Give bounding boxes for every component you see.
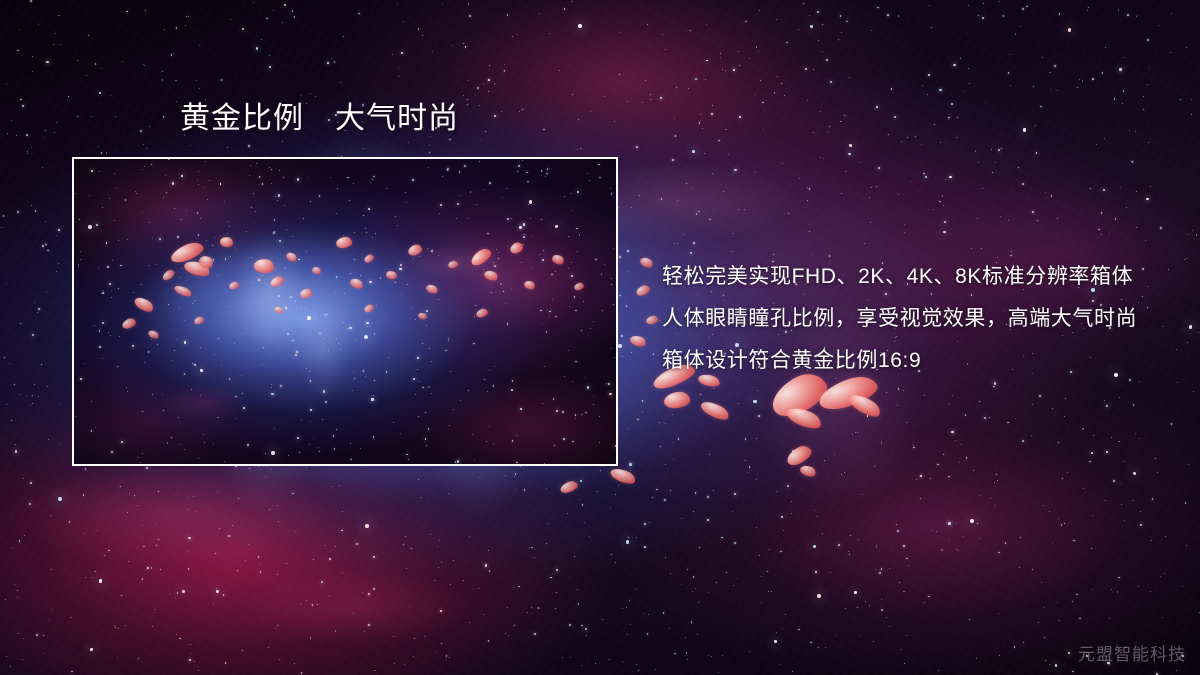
star xyxy=(143,64,144,65)
star xyxy=(468,3,469,4)
star xyxy=(450,584,451,585)
star xyxy=(1198,332,1199,333)
star xyxy=(22,105,24,107)
star xyxy=(217,491,218,492)
star xyxy=(904,224,905,225)
star xyxy=(761,576,762,577)
star xyxy=(1044,637,1045,638)
star xyxy=(1026,6,1028,8)
star xyxy=(230,19,231,20)
star xyxy=(478,477,479,478)
star xyxy=(577,589,578,590)
star xyxy=(1014,646,1015,647)
star xyxy=(1031,435,1032,436)
star xyxy=(994,505,995,506)
star xyxy=(681,518,682,519)
star xyxy=(1068,652,1070,654)
star xyxy=(985,102,986,103)
star xyxy=(956,523,957,524)
star xyxy=(619,32,620,33)
star xyxy=(59,443,60,444)
star xyxy=(373,588,375,590)
star xyxy=(69,521,70,522)
star xyxy=(836,635,837,636)
star xyxy=(32,71,33,72)
star xyxy=(799,178,800,179)
flower-petal xyxy=(509,241,525,255)
star xyxy=(43,137,44,138)
star xyxy=(1007,422,1009,424)
star xyxy=(938,670,939,671)
star xyxy=(728,154,729,155)
star xyxy=(942,195,943,196)
star xyxy=(137,505,138,506)
star xyxy=(522,109,524,111)
star xyxy=(469,15,470,16)
star xyxy=(1019,567,1020,568)
star xyxy=(708,655,709,656)
star xyxy=(693,242,695,244)
star xyxy=(807,187,808,188)
star xyxy=(20,323,21,324)
star xyxy=(36,634,38,636)
star xyxy=(60,44,61,45)
star xyxy=(488,640,489,641)
star xyxy=(644,546,645,547)
star xyxy=(996,474,997,475)
star xyxy=(1136,16,1137,17)
star xyxy=(901,649,902,650)
star xyxy=(904,232,905,233)
star xyxy=(958,550,959,551)
star xyxy=(282,22,283,23)
star xyxy=(1045,660,1046,661)
star xyxy=(398,67,399,68)
star xyxy=(858,539,859,540)
star xyxy=(365,524,369,528)
star xyxy=(943,454,945,456)
star xyxy=(1091,452,1093,454)
star xyxy=(1184,259,1185,260)
star xyxy=(791,501,792,502)
star xyxy=(615,562,616,563)
star xyxy=(995,162,996,163)
star xyxy=(708,592,709,593)
star xyxy=(327,62,329,64)
star xyxy=(266,18,268,20)
star xyxy=(45,221,46,222)
star xyxy=(619,295,621,297)
star xyxy=(969,619,971,621)
star xyxy=(937,464,938,465)
star xyxy=(160,569,161,570)
flower-petal xyxy=(699,398,732,423)
star xyxy=(310,93,311,94)
star xyxy=(429,152,430,153)
star xyxy=(600,470,601,471)
star xyxy=(300,603,301,604)
star xyxy=(128,561,129,562)
star xyxy=(857,432,858,433)
star xyxy=(672,159,674,161)
star xyxy=(841,32,842,33)
star xyxy=(147,567,149,569)
star xyxy=(887,14,889,16)
flower-petal xyxy=(407,243,424,257)
star xyxy=(1135,433,1136,434)
star xyxy=(1109,618,1110,619)
star xyxy=(175,597,176,598)
star xyxy=(969,83,970,84)
star xyxy=(875,569,876,570)
star xyxy=(859,635,860,636)
star xyxy=(478,588,479,589)
star xyxy=(249,468,250,469)
star xyxy=(523,468,524,469)
star xyxy=(306,600,307,601)
star xyxy=(188,497,189,498)
star xyxy=(928,74,930,76)
star xyxy=(1058,518,1059,519)
star xyxy=(1036,152,1038,154)
star xyxy=(221,79,223,81)
star xyxy=(1062,478,1063,479)
star xyxy=(1136,191,1137,192)
star xyxy=(1001,148,1002,149)
star xyxy=(42,245,44,247)
star xyxy=(294,663,295,664)
star xyxy=(300,94,301,95)
star xyxy=(176,101,177,102)
star xyxy=(817,516,818,517)
star xyxy=(602,619,603,620)
star xyxy=(41,364,42,365)
star xyxy=(1087,10,1088,11)
star xyxy=(685,637,686,638)
star xyxy=(405,536,406,537)
star xyxy=(755,172,756,173)
star xyxy=(1143,109,1145,111)
star xyxy=(14,584,15,585)
star xyxy=(798,29,799,30)
star xyxy=(58,497,62,501)
star xyxy=(1101,234,1102,235)
star xyxy=(1147,84,1148,85)
star xyxy=(163,116,164,117)
star xyxy=(429,145,430,146)
star xyxy=(940,142,941,143)
flower-petal xyxy=(559,479,579,495)
star xyxy=(189,659,191,661)
star xyxy=(834,454,835,455)
star xyxy=(1072,671,1073,672)
star xyxy=(705,79,706,80)
star xyxy=(514,476,515,477)
star xyxy=(992,172,993,173)
star xyxy=(268,647,269,648)
star xyxy=(982,17,984,19)
star xyxy=(597,491,598,492)
star xyxy=(245,560,246,561)
star xyxy=(706,60,708,62)
star xyxy=(692,591,693,592)
star xyxy=(1158,25,1159,26)
star xyxy=(188,551,189,552)
star xyxy=(292,10,294,12)
star xyxy=(1149,68,1150,69)
star xyxy=(341,530,343,532)
star xyxy=(665,464,666,465)
star xyxy=(585,628,587,630)
star xyxy=(190,653,191,654)
star xyxy=(1188,464,1189,465)
star xyxy=(1022,440,1024,442)
star xyxy=(556,592,557,593)
star xyxy=(58,15,59,16)
star xyxy=(35,210,36,211)
star xyxy=(952,395,953,396)
star xyxy=(1171,423,1172,424)
star xyxy=(609,659,610,660)
star xyxy=(514,587,515,588)
star xyxy=(1120,187,1121,188)
star xyxy=(48,439,49,440)
star xyxy=(225,662,226,663)
star xyxy=(920,475,922,477)
star xyxy=(1189,325,1192,328)
star xyxy=(223,594,224,595)
star xyxy=(638,670,639,671)
flower-petal xyxy=(523,279,536,290)
star xyxy=(527,612,528,613)
star xyxy=(644,547,645,548)
star xyxy=(538,607,539,608)
star xyxy=(95,571,96,572)
star xyxy=(619,74,620,75)
star xyxy=(115,627,116,628)
flower-petal xyxy=(635,284,651,298)
star xyxy=(1057,602,1058,603)
star xyxy=(691,621,692,622)
star xyxy=(663,612,664,613)
star xyxy=(697,634,698,635)
star xyxy=(24,535,25,536)
star xyxy=(269,509,270,510)
star xyxy=(1186,47,1187,48)
star xyxy=(647,24,649,26)
star xyxy=(805,68,807,70)
star xyxy=(1043,607,1044,608)
star xyxy=(70,617,71,618)
star xyxy=(951,103,953,105)
star xyxy=(1033,86,1034,87)
star xyxy=(158,491,160,493)
star xyxy=(176,27,178,29)
star xyxy=(803,3,804,4)
star xyxy=(31,205,32,206)
star xyxy=(764,110,765,111)
star xyxy=(1061,524,1063,526)
star xyxy=(659,422,660,423)
star xyxy=(34,302,35,303)
star xyxy=(331,58,332,59)
star xyxy=(798,629,799,630)
star xyxy=(738,51,739,52)
star xyxy=(876,547,877,548)
star xyxy=(122,61,123,62)
star xyxy=(673,442,674,443)
star xyxy=(507,607,508,608)
star xyxy=(550,577,552,579)
star xyxy=(1011,251,1012,252)
star xyxy=(578,603,580,605)
star xyxy=(1180,99,1182,101)
star xyxy=(660,97,662,99)
star xyxy=(683,234,684,235)
star xyxy=(496,465,497,466)
star xyxy=(51,569,52,570)
star xyxy=(756,438,757,439)
star xyxy=(1114,98,1116,100)
star xyxy=(702,128,703,129)
star xyxy=(759,10,760,11)
star xyxy=(711,656,712,657)
star xyxy=(945,233,946,234)
star xyxy=(718,672,719,673)
star xyxy=(47,386,48,387)
star xyxy=(924,602,925,603)
star xyxy=(1157,472,1158,473)
star xyxy=(722,69,723,70)
star xyxy=(489,570,491,572)
star xyxy=(494,83,495,84)
star xyxy=(869,197,870,198)
star xyxy=(791,513,792,514)
star xyxy=(1121,483,1122,484)
star xyxy=(693,576,694,577)
star xyxy=(1041,582,1042,583)
star xyxy=(306,467,307,468)
star xyxy=(4,357,5,358)
star xyxy=(655,669,656,670)
star xyxy=(977,218,978,219)
star xyxy=(397,4,398,5)
star xyxy=(188,16,189,17)
star xyxy=(68,96,70,98)
star xyxy=(825,647,826,648)
star xyxy=(1147,39,1149,41)
star xyxy=(422,35,423,36)
star xyxy=(620,261,621,262)
star xyxy=(922,85,923,86)
star xyxy=(1124,520,1125,521)
star xyxy=(543,129,544,130)
star xyxy=(733,69,735,71)
star xyxy=(776,491,777,492)
star xyxy=(1015,418,1016,419)
star xyxy=(749,651,750,652)
star xyxy=(282,141,283,142)
star xyxy=(913,447,914,448)
star xyxy=(983,3,984,4)
star xyxy=(1032,211,1034,213)
star xyxy=(865,601,866,602)
star xyxy=(948,476,949,477)
star xyxy=(739,116,741,118)
star xyxy=(923,173,924,174)
star xyxy=(15,450,17,452)
star xyxy=(242,650,243,651)
star xyxy=(1151,540,1152,541)
star xyxy=(446,655,448,657)
star xyxy=(963,536,964,537)
star xyxy=(358,13,359,14)
star xyxy=(32,56,33,57)
star xyxy=(879,572,880,573)
star xyxy=(1049,511,1050,512)
star xyxy=(3,215,4,216)
star xyxy=(77,116,78,117)
star xyxy=(759,555,760,556)
star xyxy=(55,33,56,34)
star xyxy=(449,139,451,141)
star xyxy=(822,51,823,52)
star xyxy=(182,590,185,593)
star xyxy=(874,466,875,467)
body-line-1: 轻松完美实现FHD、2K、4K、8K标准分辨率箱体 xyxy=(662,256,1182,298)
star xyxy=(1123,90,1124,91)
star xyxy=(776,632,777,633)
star xyxy=(964,91,965,92)
star xyxy=(955,440,956,441)
star xyxy=(1038,622,1039,623)
star xyxy=(813,69,814,70)
star xyxy=(903,545,904,546)
star xyxy=(1105,500,1106,501)
star xyxy=(1088,7,1090,9)
star xyxy=(483,614,484,615)
watermark-logo-text: 元盟智能科技 xyxy=(1078,640,1186,665)
star xyxy=(818,647,819,648)
star xyxy=(670,573,671,574)
photo-petal-field xyxy=(74,159,616,464)
star xyxy=(22,659,23,660)
star xyxy=(517,34,518,35)
star xyxy=(692,150,695,153)
star xyxy=(485,131,486,132)
star xyxy=(1051,195,1052,196)
star xyxy=(51,609,52,610)
star xyxy=(691,187,692,188)
star xyxy=(852,434,853,435)
star xyxy=(939,89,941,91)
star xyxy=(629,600,630,601)
star xyxy=(505,633,506,634)
star xyxy=(342,572,343,573)
star xyxy=(998,552,999,553)
star xyxy=(901,141,902,142)
star xyxy=(531,547,532,548)
star xyxy=(762,102,763,103)
star xyxy=(661,198,663,200)
star xyxy=(619,256,621,258)
star xyxy=(331,486,332,487)
star xyxy=(1101,212,1102,213)
star xyxy=(368,593,370,595)
star xyxy=(467,99,468,100)
star xyxy=(1199,612,1200,613)
flower-petal xyxy=(784,443,814,469)
